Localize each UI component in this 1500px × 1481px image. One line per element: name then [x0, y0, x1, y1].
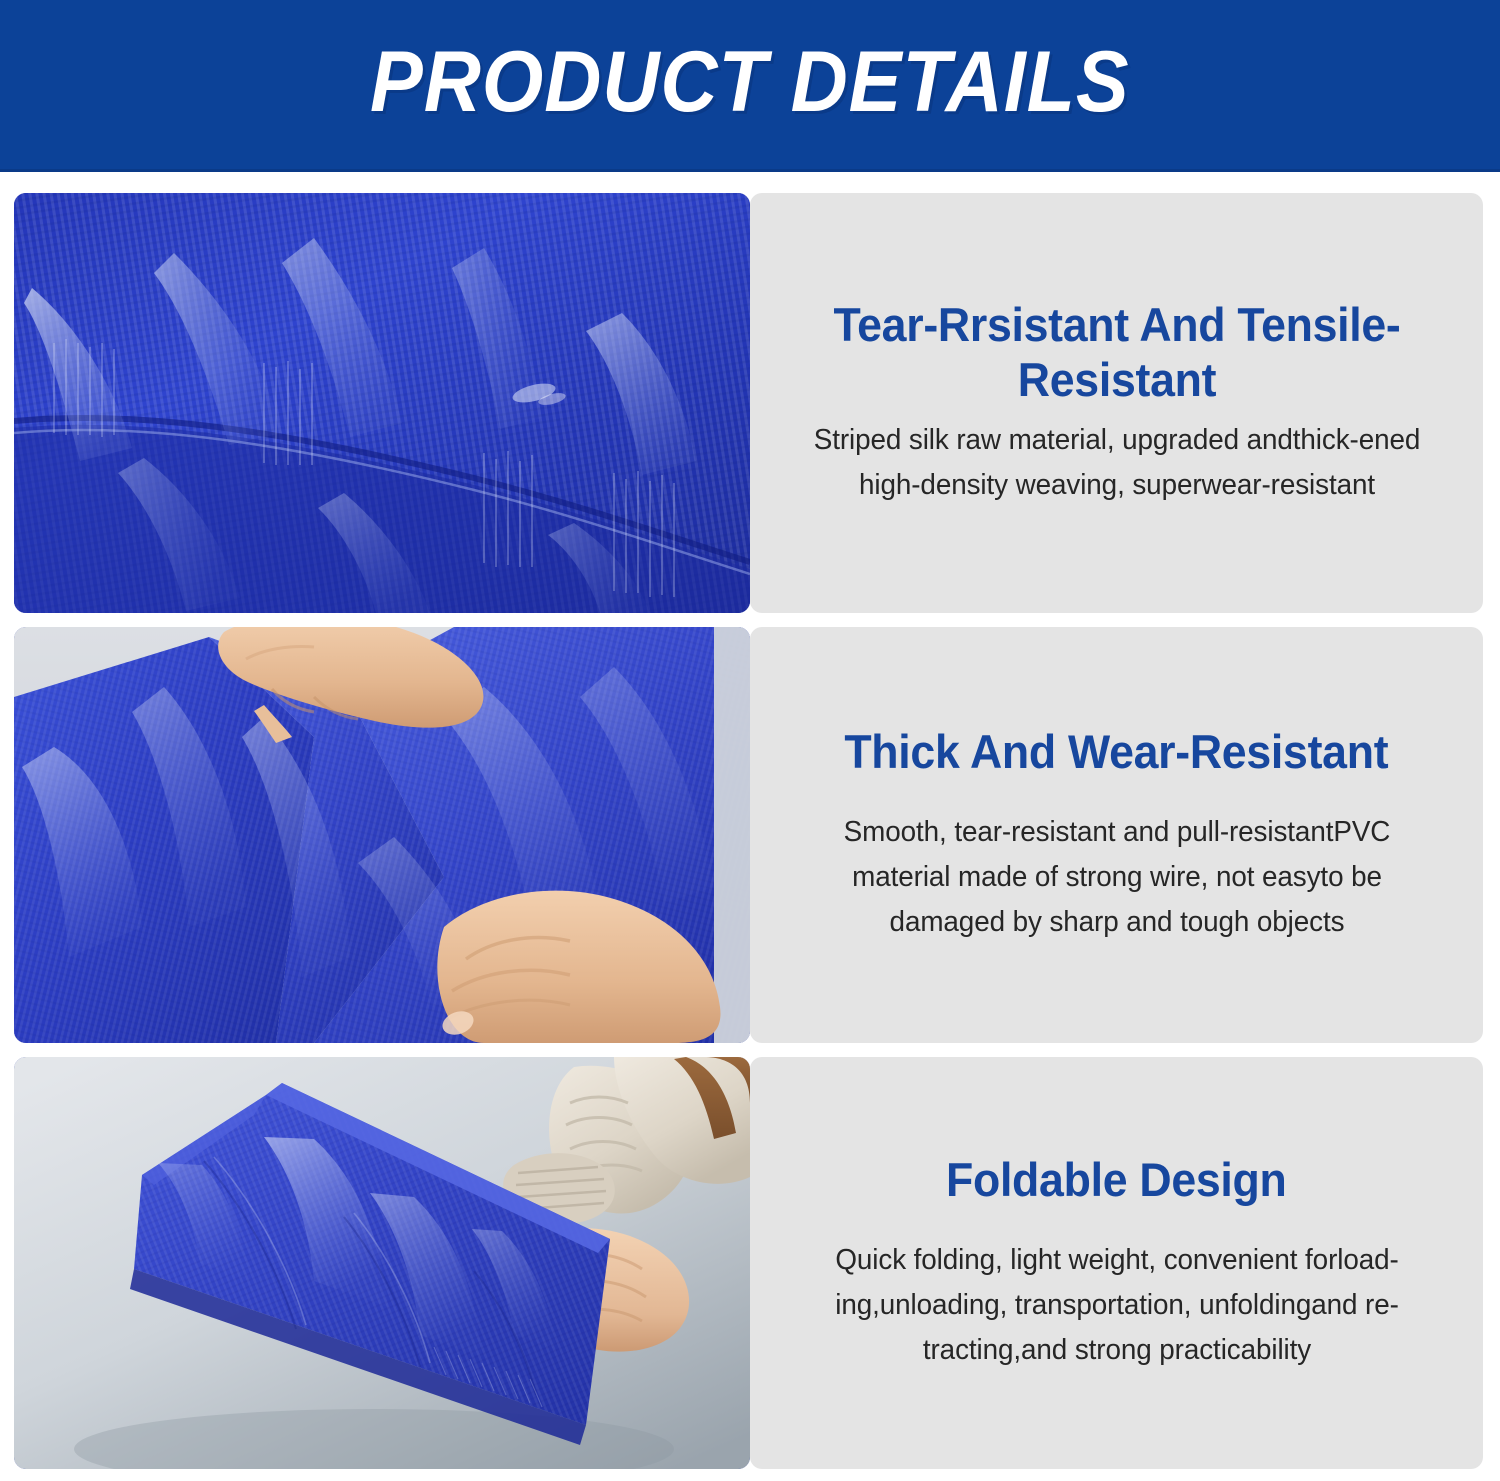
section-row: Foldable Design Quick folding, light wei… [0, 1057, 1500, 1469]
section-row: Thick And Wear-Resistant Smooth, tear-re… [0, 627, 1500, 1043]
info-panel: Thick And Wear-Resistant Smooth, tear-re… [750, 627, 1483, 1043]
folded-tarp-illustration [14, 1057, 750, 1469]
section-body: Striped silk raw material, upgraded andt… [800, 418, 1434, 508]
page-title: PRODUCT DETAILS [370, 39, 1130, 131]
section-body: Smooth, tear-resistant and pull-resistan… [800, 810, 1434, 945]
section-heading: Tear-Rrsistant And Tensile-Resistant [803, 298, 1430, 408]
product-photo-folded-tarp [14, 1057, 750, 1469]
section-row: Tear-Rrsistant And Tensile-Resistant Str… [0, 193, 1500, 613]
info-panel: Tear-Rrsistant And Tensile-Resistant Str… [750, 193, 1483, 613]
product-photo-hands-pulling-tarp [14, 627, 750, 1043]
section-heading: Foldable Design [946, 1153, 1287, 1208]
section-heading: Thick And Wear-Resistant [845, 725, 1389, 780]
section-body: Quick folding, light weight, convenient … [800, 1238, 1434, 1373]
product-photo-tarp-texture [14, 193, 750, 613]
sections-container: Tear-Rrsistant And Tensile-Resistant Str… [0, 172, 1500, 1469]
hands-pulling-tarp-illustration [14, 627, 750, 1043]
header-banner: PRODUCT DETAILS [0, 0, 1500, 172]
info-panel: Foldable Design Quick folding, light wei… [750, 1057, 1483, 1469]
tarp-texture-illustration [14, 193, 750, 613]
